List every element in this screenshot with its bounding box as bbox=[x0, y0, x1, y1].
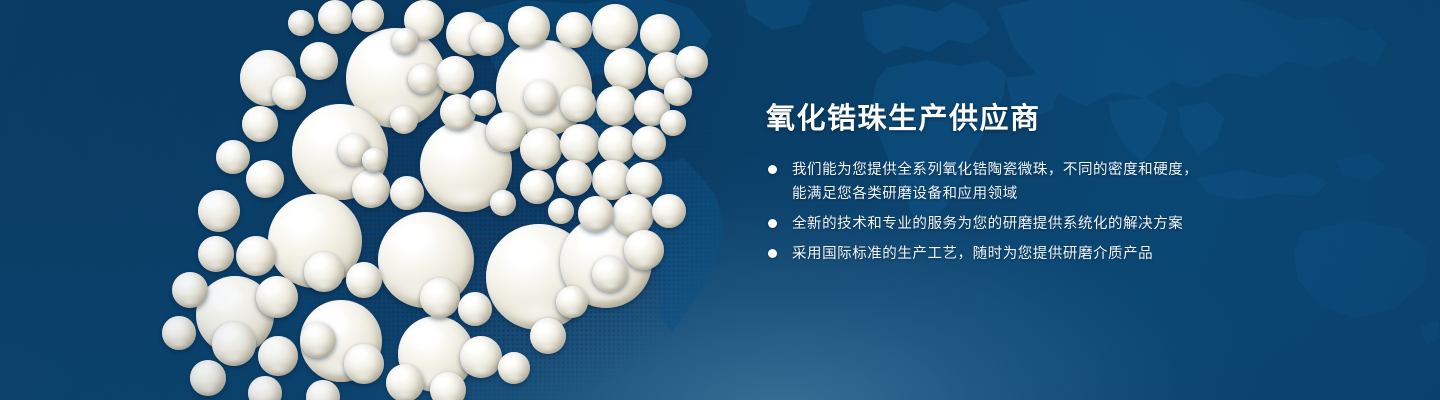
list-item: 我们能为您提供全系列氧化锆陶瓷微珠，不同的密度和硬度， 能满足您各类研磨设备和应… bbox=[764, 158, 1324, 206]
page-title: 氧化锆珠生产供应商 bbox=[766, 104, 1324, 136]
list-item: 采用国际标准的生产工艺，随时为您提供研磨介质产品 bbox=[764, 242, 1324, 266]
bullet-dot-icon bbox=[768, 249, 777, 258]
hero-banner: 氧化锆珠生产供应商 我们能为您提供全系列氧化锆陶瓷微珠，不同的密度和硬度， 能满… bbox=[0, 0, 1440, 400]
list-item-line: 能满足您各类研磨设备和应用领域 bbox=[792, 182, 1324, 206]
list-item: 全新的技术和专业的服务为您的研磨提供系统化的解决方案 bbox=[764, 212, 1324, 236]
list-item-line: 我们能为您提供全系列氧化锆陶瓷微珠，不同的密度和硬度， bbox=[792, 158, 1324, 182]
bullet-dot-icon bbox=[768, 219, 777, 228]
list-item-line: 采用国际标准的生产工艺，随时为您提供研磨介质产品 bbox=[792, 242, 1324, 266]
banner-copy: 氧化锆珠生产供应商 我们能为您提供全系列氧化锆陶瓷微珠，不同的密度和硬度， 能满… bbox=[764, 104, 1324, 266]
feature-list: 我们能为您提供全系列氧化锆陶瓷微珠，不同的密度和硬度， 能满足您各类研磨设备和应… bbox=[764, 158, 1324, 266]
list-item-line: 全新的技术和专业的服务为您的研磨提供系统化的解决方案 bbox=[792, 212, 1324, 236]
bullet-dot-icon bbox=[768, 165, 777, 174]
